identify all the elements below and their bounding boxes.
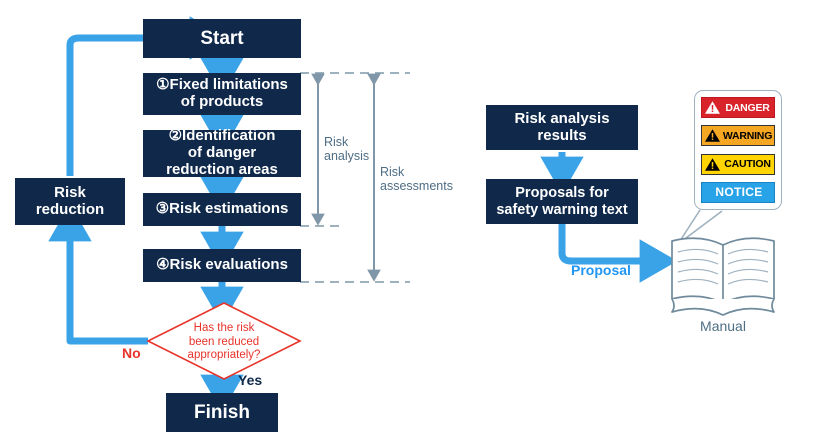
node-risk-analysis-results[interactable]: Risk analysis results bbox=[486, 105, 638, 150]
bracket-label-risk-analysis-line2: analysis bbox=[324, 149, 369, 163]
node-proposals-line2: safety warning text bbox=[496, 202, 627, 218]
node-start[interactable]: Start bbox=[143, 19, 301, 58]
arrow-no-to-risk-reduction bbox=[70, 226, 148, 341]
proposal-edge-label: Proposal bbox=[571, 262, 631, 278]
safety-signs-callout: DANGER WARNING CAUTION NOTICE bbox=[694, 90, 782, 210]
sign-warning-label: WARNING bbox=[721, 130, 774, 142]
node-step2-identification[interactable]: ②Identification of danger reduction area… bbox=[143, 130, 301, 177]
diagram-canvas: Start ①Fixed limitations of products ②Id… bbox=[0, 0, 829, 446]
decision-label-line2: been reduced bbox=[159, 336, 289, 350]
node-finish-label: Finish bbox=[194, 402, 250, 423]
sign-danger-label: DANGER bbox=[721, 102, 774, 114]
decision-branch-no-label: No bbox=[122, 345, 141, 361]
warning-triangle-icon bbox=[704, 100, 721, 115]
bracket-label-risk-assessments-line1: Risk bbox=[380, 165, 453, 179]
node-risk-reduction-line1: Risk bbox=[54, 185, 86, 202]
decision-label: Has the risk been reduced appropriately? bbox=[159, 322, 289, 363]
node-step2-label-line3: reduction areas bbox=[166, 162, 278, 179]
manual-label: Manual bbox=[673, 318, 773, 334]
node-risk-reduction[interactable]: Risk reduction bbox=[15, 178, 125, 225]
sign-warning: WARNING bbox=[701, 125, 775, 146]
warning-triangle-icon bbox=[704, 128, 721, 143]
node-step4-risk-evaluations[interactable]: ④Risk evaluations bbox=[143, 249, 301, 282]
callout-tail bbox=[678, 210, 722, 244]
decision-label-line1: Has the risk bbox=[159, 322, 289, 336]
sign-caution-label: CAUTION bbox=[721, 158, 774, 170]
node-step3-label: ③Risk estimations bbox=[156, 201, 289, 218]
sign-danger: DANGER bbox=[701, 97, 775, 118]
decision-label-line3: appropriately? bbox=[159, 349, 289, 363]
sign-notice: NOTICE bbox=[701, 182, 775, 203]
node-step3-risk-estimations[interactable]: ③Risk estimations bbox=[143, 193, 301, 226]
decision-branch-yes-label: Yes bbox=[238, 372, 262, 388]
node-proposals-line1: Proposals for bbox=[515, 185, 608, 201]
node-step1-label-line2: of products bbox=[181, 94, 264, 111]
bracket-label-risk-analysis: Risk analysis bbox=[324, 135, 369, 163]
node-step1-fixed-limitations[interactable]: ①Fixed limitations of products bbox=[143, 73, 301, 115]
node-proposals-safety-warning-text[interactable]: Proposals for safety warning text bbox=[486, 179, 638, 224]
bracket-label-risk-assessments: Risk assessments bbox=[380, 165, 453, 193]
warning-triangle-icon bbox=[704, 157, 721, 172]
node-step4-label: ④Risk evaluations bbox=[156, 257, 288, 274]
node-step1-label-line1: ①Fixed limitations bbox=[156, 77, 288, 94]
manual-book-icon bbox=[672, 238, 774, 315]
node-results-line2: results bbox=[537, 128, 586, 145]
sign-caution: CAUTION bbox=[701, 154, 775, 175]
sign-notice-label: NOTICE bbox=[704, 185, 774, 199]
arrow-proposals-to-manual bbox=[562, 224, 655, 261]
node-finish[interactable]: Finish bbox=[166, 393, 278, 432]
node-step2-label-line2: of danger bbox=[188, 145, 256, 162]
bracket-label-risk-assessments-line2: assessments bbox=[380, 179, 453, 193]
node-start-label: Start bbox=[200, 28, 243, 49]
bracket-label-risk-analysis-line1: Risk bbox=[324, 135, 369, 149]
node-results-line1: Risk analysis bbox=[514, 111, 609, 128]
node-step2-label-line1: ②Identification bbox=[169, 128, 276, 145]
node-risk-reduction-line2: reduction bbox=[36, 202, 104, 219]
manual-book-lines bbox=[678, 249, 768, 284]
